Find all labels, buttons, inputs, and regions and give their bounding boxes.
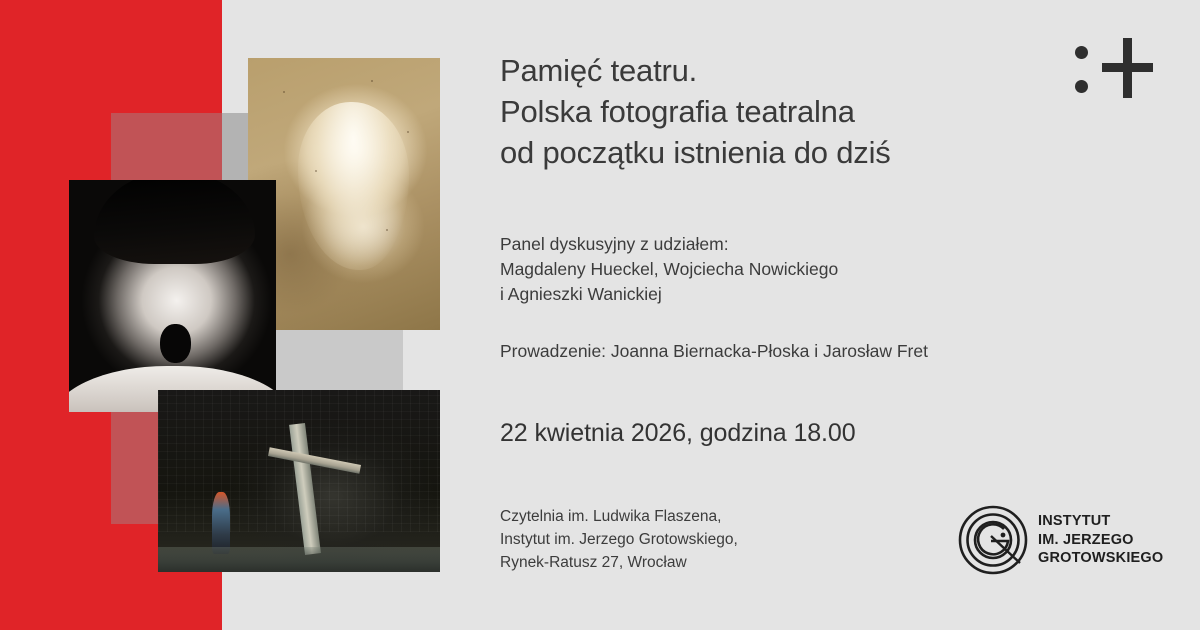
panel-participants: Panel dyskusyjny z udziałem: Magdaleny H… [500, 232, 838, 307]
panel-hosts: Prowadzenie: Joanna Biernacka-Płoska i J… [500, 339, 928, 364]
sepia-figure-shape [298, 102, 409, 271]
event-date: 22 kwietnia 2026, godzina 18.00 [500, 417, 856, 449]
stage-floor [158, 547, 440, 572]
plus-icon [1102, 63, 1153, 72]
bw-mouth-shape [160, 324, 191, 363]
photo-stage-cross [158, 390, 440, 572]
grotowski-institute-spiral-mark [958, 505, 1028, 575]
sepia-speck [283, 91, 285, 93]
bw-hair-shape [94, 180, 255, 264]
sepia-speck [371, 80, 373, 82]
photo-sepia-portrait [248, 58, 440, 330]
sepia-speck [407, 131, 409, 133]
dot-icon [1075, 46, 1088, 59]
dot-icon [1075, 80, 1088, 93]
page-title: Pamięć teatru. Polska fotografia teatral… [500, 50, 891, 173]
stage-performer [212, 492, 230, 554]
institute-logo: INSTYTUT IM. JERZEGO GROTOWSKIEGO [958, 505, 1163, 581]
dots-and-plus-mark [1075, 38, 1155, 100]
sepia-speck [315, 170, 317, 172]
poster-canvas: Pamięć teatru. Polska fotografia teatral… [0, 0, 1200, 630]
institute-logo-text: INSTYTUT IM. JERZEGO GROTOWSKIEGO [1038, 512, 1163, 568]
event-venue: Czytelnia im. Ludwika Flaszena, Instytut… [500, 505, 738, 574]
photo-bw-screaming-actor [69, 180, 276, 412]
